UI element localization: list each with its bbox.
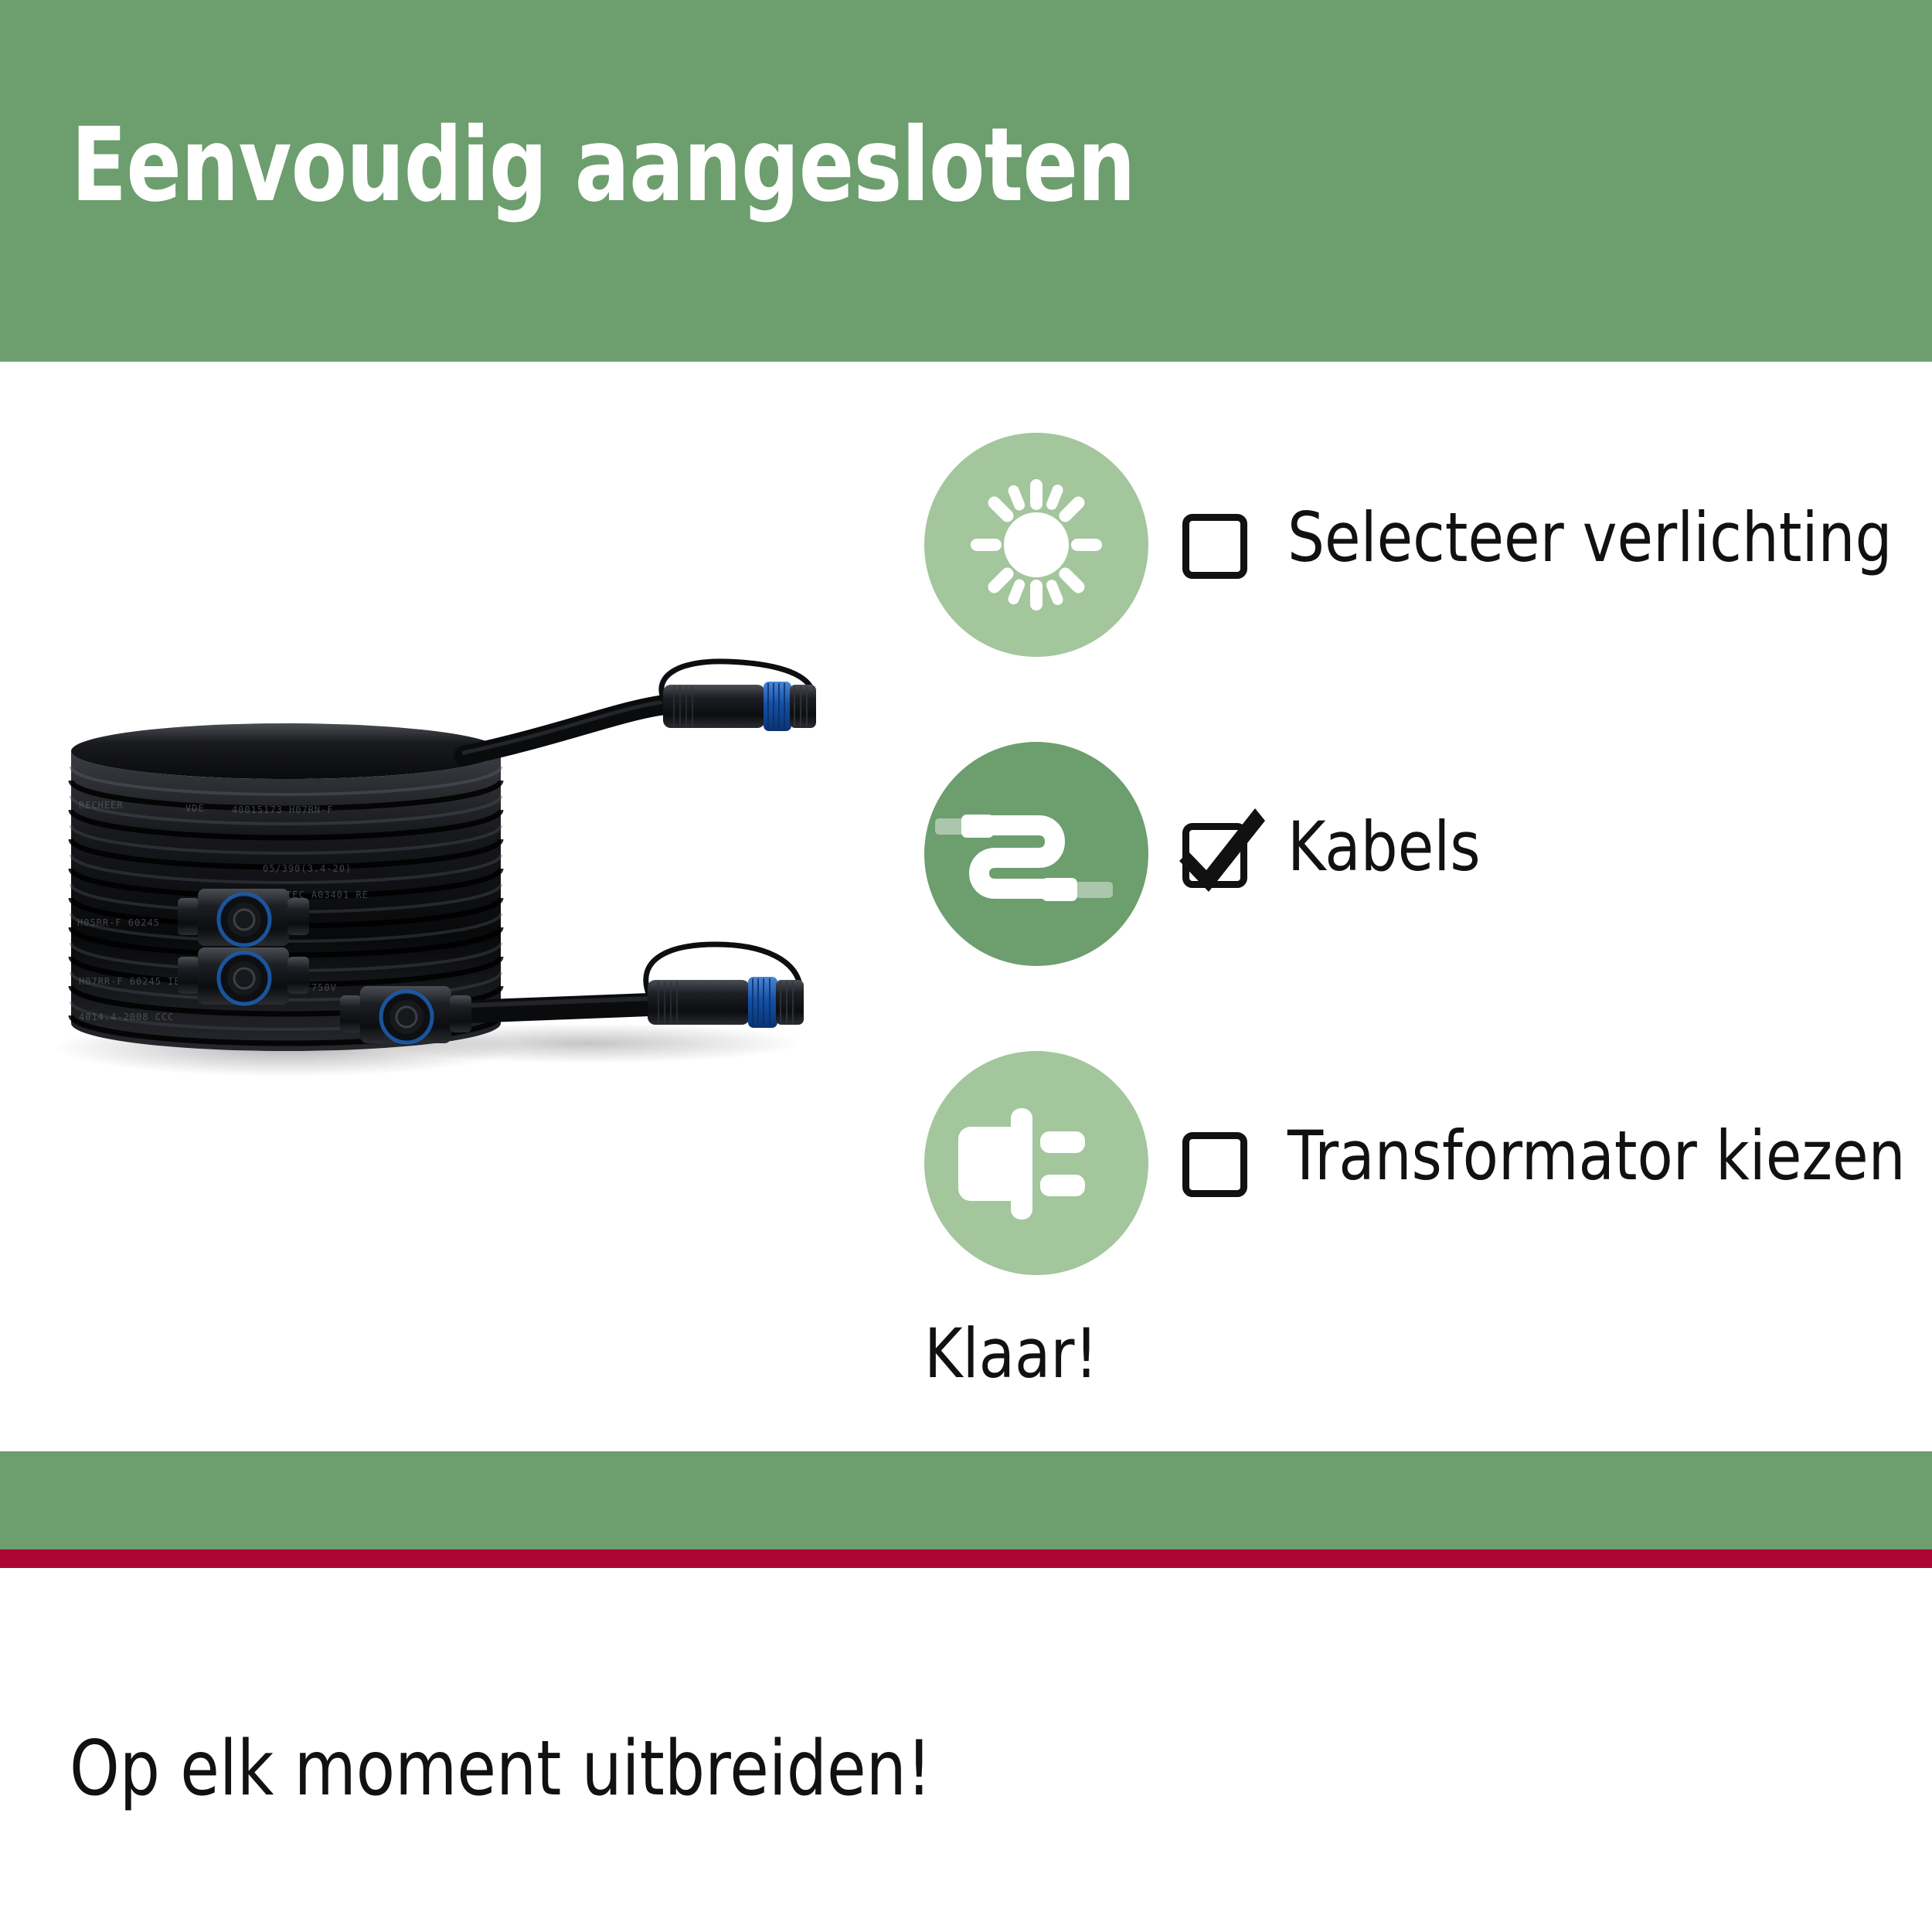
product-photo: RECHEER VDE 40015173 H07RN-F 05/390(3.4-…: [31, 657, 943, 1121]
sun-icon-circle: [924, 433, 1148, 657]
checklist-label-select-lighting: Selecteer verlichting: [1287, 504, 1893, 572]
footer-red-band: [0, 1549, 1932, 1568]
product-infographic-page: Eenvoudig aangesloten: [0, 0, 1932, 1932]
header-band: Eenvoudig aangesloten: [0, 0, 1932, 362]
cable-coil-illustration: RECHEER VDE 40015173 H07RN-F 05/390(3.4-…: [31, 657, 943, 1121]
checklist-row-cables[interactable]: Kabels: [924, 742, 1929, 1051]
svg-text:H05RR-F 60245: H05RR-F 60245: [77, 917, 160, 928]
svg-text:4014.4-2008 CCC: 4014.4-2008 CCC: [79, 1012, 174, 1022]
svg-text:RECHEER: RECHEER: [79, 800, 124, 811]
svg-text:VDE: VDE: [185, 803, 205, 814]
svg-text:05/390(3.4-20): 05/390(3.4-20): [263, 863, 352, 874]
checklist: Selecteer verlichting Kabels: [924, 433, 1929, 1360]
checklist-row-select-lighting[interactable]: Selecteer verlichting: [924, 433, 1929, 742]
sun-icon: [924, 433, 1148, 657]
plug-icon-circle: [924, 1051, 1148, 1275]
checkbox-cables[interactable]: [1182, 823, 1247, 888]
footer-green-band: [0, 1451, 1932, 1549]
svg-text:40015173 H07RN-F: 40015173 H07RN-F: [232, 804, 334, 815]
checklist-label-cables: Kabels: [1287, 813, 1481, 881]
cable-connector-top: [663, 682, 816, 731]
cable-icon: [924, 742, 1148, 966]
page-title: Eenvoudig aangesloten: [71, 114, 1135, 216]
footer-text: Op elk moment uitbreiden!: [70, 1725, 932, 1813]
checklist-label-transformer: Transformator kiezen: [1287, 1122, 1906, 1190]
checkbox-select-lighting[interactable]: [1182, 514, 1247, 579]
plug-icon: [924, 1051, 1148, 1275]
cable-connector-bottom: [648, 977, 804, 1028]
done-label: Klaar!: [924, 1314, 1098, 1393]
cable-icon-circle: [924, 742, 1148, 966]
checkbox-transformer[interactable]: [1182, 1132, 1247, 1197]
